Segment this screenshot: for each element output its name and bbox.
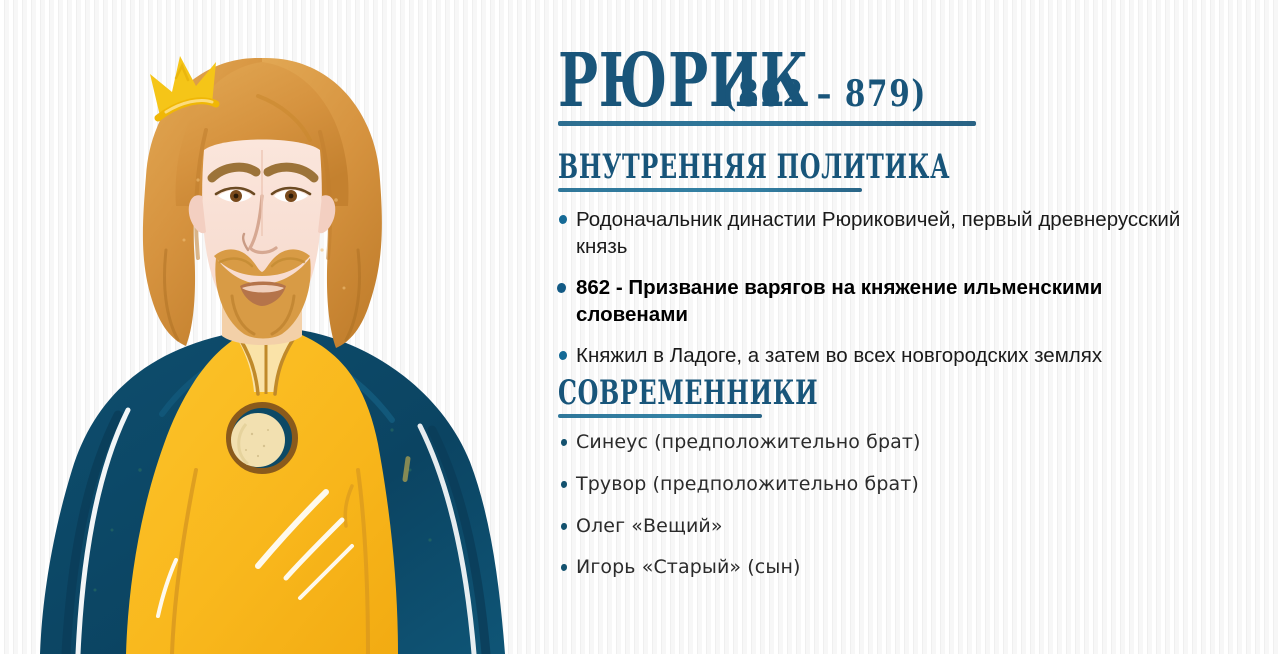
list-item: 862 - Призвание варягов на княжение ильм…: [552, 274, 1200, 328]
section-heading-internal-policy: ВНУТРЕННЯЯ ПОЛИТИКА: [558, 150, 1118, 192]
title-row: РЮРИК (862 – 879): [558, 44, 988, 118]
title-underline: [558, 121, 976, 126]
list-item: Трувор (предположительно брат): [552, 473, 1072, 497]
internal-policy-list: Родоначальник династии Рюриковичей, перв…: [552, 206, 1200, 383]
title-block: РЮРИК (862 – 879): [558, 44, 988, 126]
slide-root: РЮРИК (862 – 879) ВНУТРЕННЯЯ ПОЛИТИКА Ро…: [0, 0, 1280, 654]
reign-years: (862 – 879): [722, 76, 927, 112]
content-panel: РЮРИК (862 – 879) ВНУТРЕННЯЯ ПОЛИТИКА Ро…: [548, 0, 1264, 654]
section-heading-underline: [558, 414, 762, 418]
brooch-icon: [227, 403, 297, 473]
list-item: Княжил в Ладоге, а затем во всех новгоро…: [552, 342, 1200, 369]
list-item: Олег «Вещий»: [552, 515, 1072, 539]
list-item: Родоначальник династии Рюриковичей, перв…: [552, 206, 1200, 260]
prince-illustration: [0, 0, 545, 654]
section-heading-contemporaries: СОВРЕМЕННИКИ: [558, 376, 930, 418]
list-item: Игорь «Старый» (сын): [552, 556, 1072, 580]
list-item: Синеус (предположительно брат): [552, 431, 1072, 455]
section-heading-label: СОВРЕМЕННИКИ: [558, 376, 818, 412]
section-heading-underline: [558, 188, 862, 192]
section-heading-label: ВНУТРЕННЯЯ ПОЛИТИКА: [558, 150, 950, 186]
contemporaries-list: Синеус (предположительно брат) Трувор (п…: [552, 431, 1072, 598]
